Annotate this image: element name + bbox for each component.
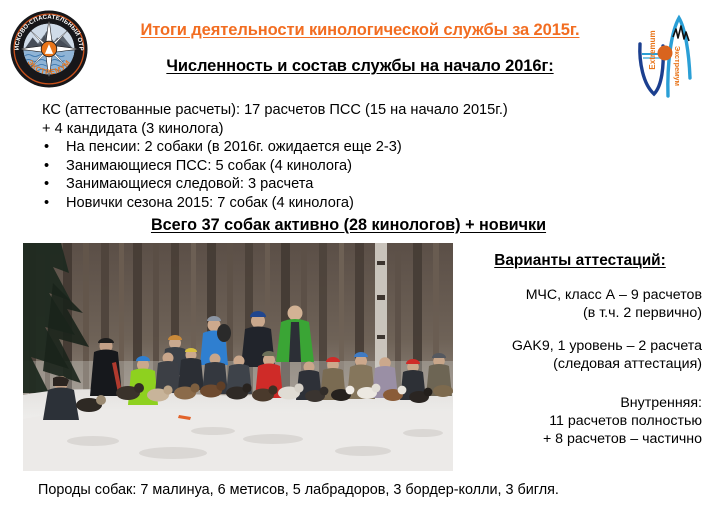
- page-title: Итоги деятельности кинологической службы…: [110, 21, 610, 40]
- psо-ekstremum-emblem-icon: ПОИСКОВО-СПАСАТЕЛЬНЫЙ ОТРЯД ЭКСТРЕМУМ: [8, 8, 90, 90]
- list-item: • Занимающиеся ПСС: 5 собак (4 кинолога): [0, 157, 709, 176]
- list-item: • На пенсии: 2 собаки (в 2016г. ожидаетс…: [0, 138, 709, 157]
- page-subtitle: Численность и состав службы на начало 20…: [110, 57, 610, 76]
- list-item-label: Новички сезона 2015: 7 собак (4 кинолога…: [66, 195, 354, 211]
- certification-line: (следовая аттестация): [458, 355, 702, 373]
- certifications-title: Варианты аттестаций:: [458, 252, 702, 270]
- list-item: • Занимающиеся следовой: 3 расчета: [0, 175, 709, 194]
- roster-line: + 4 кандидата (3 кинолога): [0, 120, 709, 139]
- list-item-label: На пенсии: 2 собаки (в 2016г. ожидается …: [66, 139, 402, 155]
- roster-block: КС (аттестованные расчеты): 17 расчетов …: [0, 101, 709, 236]
- bullet-icon: •: [44, 138, 49, 157]
- extremum-logo-icon: Extremum Экстремум: [627, 4, 701, 104]
- certification-line: GAK9, 1 уровень – 2 расчета: [458, 337, 702, 355]
- certification-block: GAK9, 1 уровень – 2 расчета (следовая ат…: [458, 337, 702, 374]
- certifications-panel: Варианты аттестаций: МЧС, класс А – 9 ра…: [458, 252, 702, 449]
- certification-block: МЧС, класс А – 9 расчетов (в т.ч. 2 перв…: [458, 286, 702, 323]
- roster-line: КС (аттестованные расчеты): 17 расчетов …: [0, 101, 709, 120]
- certification-line: МЧС, класс А – 9 расчетов: [458, 286, 702, 304]
- certification-line: Внутренняя:: [458, 394, 702, 412]
- certification-line: 11 расчетов полностью: [458, 412, 702, 430]
- group-photo: [23, 243, 453, 471]
- svg-text:Extremum: Extremum: [648, 30, 657, 69]
- certification-line: + 8 расчетов – частично: [458, 430, 702, 448]
- dog-breeds-summary: Породы собак: 7 малинуа, 6 метисов, 5 ла…: [38, 481, 559, 499]
- certification-block: Внутренняя: 11 расчетов полностью + 8 ра…: [458, 394, 702, 449]
- certification-line: (в т.ч. 2 первично): [458, 304, 702, 322]
- list-item-label: Занимающиеся ПСС: 5 собак (4 кинолога): [66, 158, 352, 174]
- bullet-icon: •: [44, 175, 49, 194]
- bullet-icon: •: [44, 194, 49, 213]
- bullet-icon: •: [44, 157, 49, 176]
- list-item-label: Занимающиеся следовой: 3 расчета: [66, 176, 313, 192]
- list-item: • Новички сезона 2015: 7 собак (4 киноло…: [0, 194, 709, 213]
- total-dogs-summary: Всего 37 собак активно (28 кинологов) + …: [0, 215, 709, 236]
- svg-text:Экстремум: Экстремум: [673, 46, 682, 86]
- slide-root: ПОИСКОВО-СПАСАТЕЛЬНЫЙ ОТРЯД ЭКСТРЕМУМ Ex…: [0, 0, 709, 520]
